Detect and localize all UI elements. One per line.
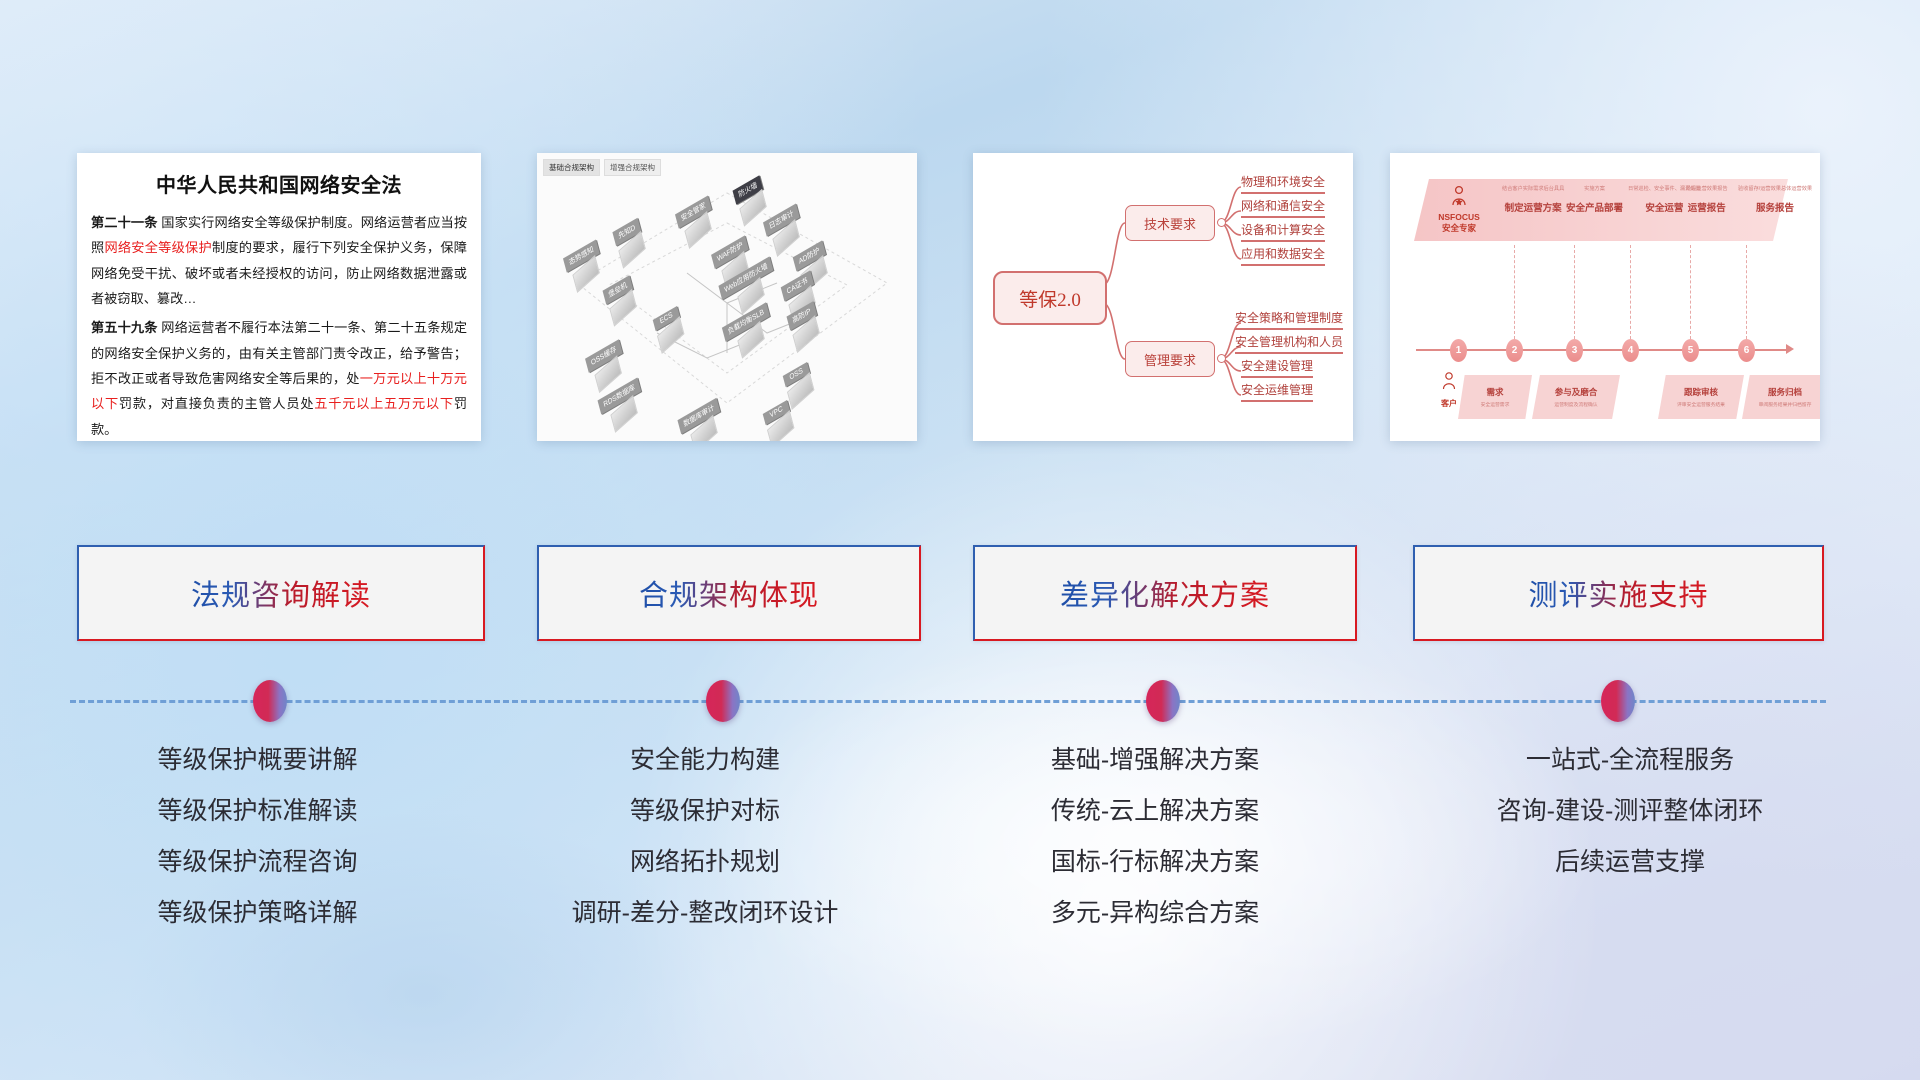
service-step-title: 服务报告 — [1738, 200, 1812, 214]
list-item: 多元-异构综合方案 — [930, 888, 1380, 939]
feature-label-3: 差异化解决方案 — [1060, 572, 1270, 614]
list-item: 等级保护策略详解 — [35, 888, 480, 939]
timeline-dot-4[interactable] — [1601, 680, 1635, 722]
mindmap-leaf-m2: 安全管理机构和人员 — [1235, 333, 1343, 354]
mindmap-branch-management: 管理要求 — [1125, 341, 1215, 377]
feature-box-1[interactable]: 法规咨询解读 — [77, 545, 485, 641]
detail-column-1: 等级保护概要讲解 等级保护标准解读 等级保护流程咨询 等级保护策略详解 — [35, 735, 480, 939]
service-step-number: 2 — [1506, 339, 1523, 362]
list-item: 网络拓扑规划 — [480, 837, 930, 888]
service-step-number: 1 — [1450, 339, 1467, 362]
service-step-drop-line — [1574, 245, 1576, 339]
list-item: 基础-增强解决方案 — [930, 735, 1380, 786]
detail-column-2: 安全能力构建 等级保护对标 网络拓扑规划 调研-差分-整改闭环设计 — [480, 735, 930, 939]
service-step-title: 安全产品部署 — [1566, 200, 1623, 214]
service-bottom-tag-subtitle: 安全运营需求 — [1481, 401, 1510, 408]
list-item: 等级保护流程咨询 — [35, 837, 480, 888]
service-step-subtitle: 结合客户实际需求后台具具 — [1502, 187, 1564, 193]
cards-row: 中华人民共和国网络安全法 第二十一条 国家实行网络安全等级保护制度。网络运营者应… — [0, 0, 1920, 460]
law-article-21-label: 第二十一条 — [91, 215, 158, 230]
timeline-dot-1[interactable] — [253, 680, 287, 722]
feature-label-1: 法规咨询解读 — [191, 572, 371, 614]
law-article-59-text-b: 罚款，对直接负责的主管人员处 — [119, 396, 314, 411]
service-axis-line — [1416, 349, 1788, 351]
architecture-tab-basic[interactable]: 基础合规架构 — [543, 159, 600, 176]
service-step-subtitle: 验收留存/运营效果总体运营效果 — [1738, 187, 1812, 193]
service-step-subtitle: 阶段运营效果报告 — [1686, 187, 1728, 193]
service-axis-arrow-icon — [1786, 344, 1794, 354]
service-bottom-tag: 需求安全运营需求 — [1458, 375, 1532, 419]
service-step-drop-line — [1514, 245, 1516, 339]
list-item: 咨询-建设-测评整体闭环 — [1380, 786, 1880, 837]
service-step-subtitle: 实施方案 — [1566, 187, 1623, 193]
architecture-tabs[interactable]: 基础合规架构 增强合规架构 — [543, 159, 661, 176]
service-bottom-tag-title: 跟踪审核 — [1684, 386, 1718, 398]
detail-column-3: 基础-增强解决方案 传统-云上解决方案 国标-行标解决方案 多元-异构综合方案 — [930, 735, 1380, 939]
service-bottom-tag-title: 参与及磨合 — [1555, 386, 1598, 398]
mindmap-branch-technical: 技术要求 — [1125, 205, 1215, 241]
service-bottom-tag: 参与及磨合运营制度及流程确认 — [1532, 375, 1620, 419]
law-body: 第二十一条 国家实行网络安全等级保护制度。网络运营者应当按照网络安全等级保护制度… — [77, 210, 481, 441]
service-step: 实施方案安全产品部署 — [1566, 187, 1623, 214]
service-step-number: 5 — [1682, 339, 1699, 362]
service-timeline-canvas: NSFOCUS 安全专家 结合客户实际需求后台具具制定运营方案实施方案安全产品部… — [1390, 153, 1820, 441]
law-article-59: 第五十九条 网络运营者不履行本法第二十一条、第二十五条规定的网络安全保护义务的，… — [91, 315, 467, 441]
service-bottom-tag: 跟踪审核评审安全运营服务结果 — [1658, 375, 1744, 419]
service-step-title: 运营报告 — [1686, 200, 1728, 214]
service-step-number: 3 — [1566, 339, 1583, 362]
service-bottom-tag-subtitle: 审阅服务结果并归档留存 — [1759, 401, 1812, 408]
law-article-21: 第二十一条 国家实行网络安全等级保护制度。网络运营者应当按照网络安全等级保护制度… — [91, 210, 467, 311]
service-bottom-tag-title: 需求 — [1486, 386, 1503, 398]
card-mindmap[interactable]: 等保2.0 技术要求 管理要求 物理和环境安全 网络和通信安全 设备和计算安全 … — [973, 153, 1353, 441]
list-item: 后续运营支撑 — [1380, 837, 1880, 888]
expert-brand: NSFOCUS — [1428, 212, 1490, 223]
service-expert-block: NSFOCUS 安全专家 — [1428, 185, 1490, 233]
feature-box-2[interactable]: 合规架构体现 — [537, 545, 921, 641]
detail-columns: 等级保护概要讲解 等级保护标准解读 等级保护流程咨询 等级保护策略详解 安全能力… — [0, 735, 1920, 939]
mindmap-leaf-t1: 物理和环境安全 — [1241, 173, 1325, 194]
service-step: 阶段运营效果报告运营报告 — [1686, 187, 1728, 214]
mindmap-root-node: 等保2.0 — [993, 271, 1107, 325]
service-bottom-tag: 服务归档审阅服务结果并归档留存 — [1742, 375, 1820, 419]
list-item: 国标-行标解决方案 — [930, 837, 1380, 888]
feature-label-2: 合规架构体现 — [639, 572, 819, 614]
service-step-number: 6 — [1738, 339, 1755, 362]
mindmap-leaf-t4: 应用和数据安全 — [1241, 245, 1325, 266]
mindmap-leaf-t2: 网络和通信安全 — [1241, 197, 1325, 218]
service-step-drop-line — [1690, 245, 1692, 339]
list-item: 安全能力构建 — [480, 735, 930, 786]
service-bottom-tag-subtitle: 运营制度及流程确认 — [1554, 401, 1597, 408]
timeline-dot-3[interactable] — [1146, 680, 1180, 722]
service-step-drop-line — [1746, 245, 1748, 339]
timeline-dot-2[interactable] — [706, 680, 740, 722]
card-service-timeline[interactable]: NSFOCUS 安全专家 结合客户实际需求后台具具制定运营方案实施方案安全产品部… — [1390, 153, 1820, 441]
mindmap-leaf-m1: 安全策略和管理制度 — [1235, 309, 1343, 330]
law-article-59-highlight-2: 五千元以上五万元以下 — [314, 396, 454, 411]
service-step: 验收留存/运营效果总体运营效果服务报告 — [1738, 187, 1812, 214]
mindmap-leaf-t3: 设备和计算安全 — [1241, 221, 1325, 242]
service-step-title: 制定运营方案 — [1502, 200, 1564, 214]
service-bottom-tag-title: 服务归档 — [1768, 386, 1802, 398]
law-article-21-highlight: 网络安全等级保护 — [104, 240, 212, 255]
expert-person-icon — [1449, 185, 1469, 207]
law-title: 中华人民共和国网络安全法 — [77, 169, 481, 198]
card-architecture-diagram[interactable]: 基础合规架构 增强合规架构 态势感知先知D安全管家堡垒机防火墙日志审计WAF防护… — [537, 153, 917, 441]
list-item: 一站式-全流程服务 — [1380, 735, 1880, 786]
mindmap-leaf-m3: 安全建设管理 — [1241, 357, 1313, 378]
architecture-tab-enhanced[interactable]: 增强合规架构 — [604, 159, 661, 176]
timeline-dashed-line — [70, 700, 1826, 703]
customer-person-icon — [1440, 371, 1458, 391]
mindmap-canvas: 等保2.0 技术要求 管理要求 物理和环境安全 网络和通信安全 设备和计算安全 … — [973, 153, 1353, 441]
feature-box-4[interactable]: 测评实施支持 — [1413, 545, 1824, 641]
list-item: 等级保护对标 — [480, 786, 930, 837]
feature-box-3[interactable]: 差异化解决方案 — [973, 545, 1357, 641]
architecture-canvas: 基础合规架构 增强合规架构 态势感知先知D安全管家堡垒机防火墙日志审计WAF防护… — [537, 153, 917, 441]
mindmap-leaf-m4: 安全运维管理 — [1241, 381, 1313, 402]
feature-label-4: 测评实施支持 — [1528, 572, 1708, 614]
service-step: 结合客户实际需求后台具具制定运营方案 — [1502, 187, 1564, 214]
service-bottom-tag-subtitle: 评审安全运营服务结果 — [1677, 401, 1725, 408]
law-article-59-label: 第五十九条 — [91, 320, 158, 335]
list-item: 调研-差分-整改闭环设计 — [480, 888, 930, 939]
list-item: 等级保护标准解读 — [35, 786, 480, 837]
service-step-drop-line — [1630, 245, 1632, 339]
detail-column-4: 一站式-全流程服务 咨询-建设-测评整体闭环 后续运营支撑 — [1380, 735, 1880, 939]
mindmap-collapse-dot-technical[interactable] — [1217, 218, 1226, 227]
expert-role: 安全专家 — [1428, 223, 1490, 234]
list-item: 等级保护概要讲解 — [35, 735, 480, 786]
list-item: 传统-云上解决方案 — [930, 786, 1380, 837]
card-law-document[interactable]: 中华人民共和国网络安全法 第二十一条 国家实行网络安全等级保护制度。网络运营者应… — [77, 153, 481, 441]
mindmap-collapse-dot-management[interactable] — [1217, 354, 1226, 363]
service-step-number: 4 — [1622, 339, 1639, 362]
